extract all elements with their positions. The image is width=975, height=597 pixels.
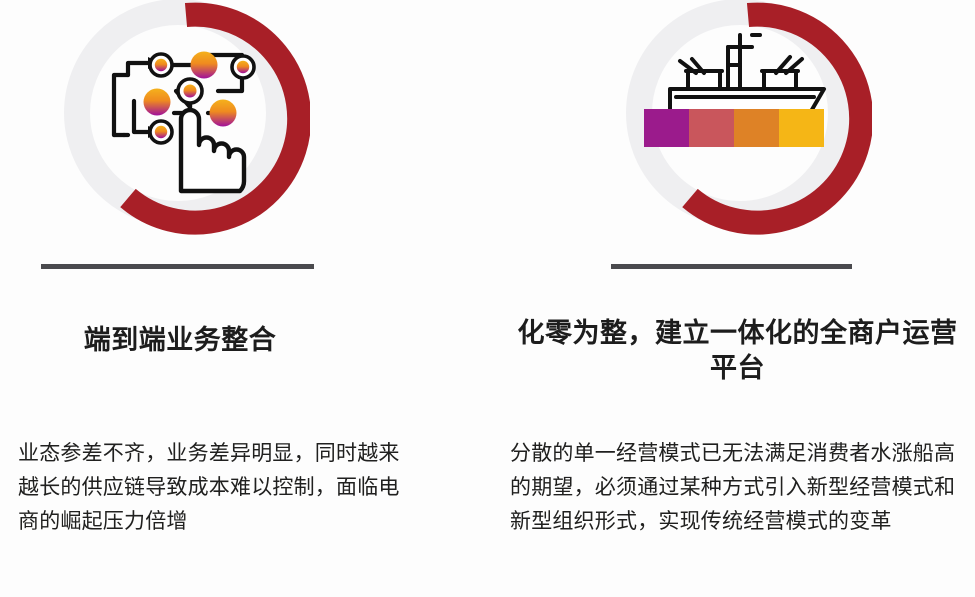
heading-right: 化零为整，建立一体化的全商户运营平台 [510,316,965,386]
heading-left: 端到端业务整合 [0,323,360,358]
container-red [689,109,734,147]
body-right-text: 分散的单一经营模式已无法满足消费者水涨船高的期望，必须通过某种方式引入新型经营模… [510,437,962,539]
column-end-to-end-business-integration: 端到端业务整合 业态参差不齐，业务差异明显，同时越来越长的供应链导致成本难以控制… [0,0,490,597]
container-orange [734,109,779,147]
container-purple [644,109,689,147]
badge-cargo-ship [624,0,872,243]
divider-right [611,264,852,269]
container-yellow [779,109,824,147]
badge-network-flow [62,0,310,243]
shipping-containers [644,109,824,147]
body-left-text: 业态参差不齐，业务差异明显，同时越来越长的供应链导致成本难以控制，面临电商的崛起… [18,437,418,539]
divider-left [41,264,314,269]
body-left: 业态参差不齐，业务差异明显，同时越来越长的供应链导致成本难以控制，面临电商的崛起… [18,437,418,539]
column-unified-merchant-operating-platform: 化零为整，建立一体化的全商户运营平台 分散的单一经营模式已无法满足消费者水涨船高… [490,0,975,597]
body-right: 分散的单一经营模式已无法满足消费者水涨船高的期望，必须通过某种方式引入新型经营模… [510,437,962,539]
pointing-hand-icon [181,110,244,191]
infographic-slide: 端到端业务整合 业态参差不齐，业务差异明显，同时越来越长的供应链导致成本难以控制… [0,0,975,597]
